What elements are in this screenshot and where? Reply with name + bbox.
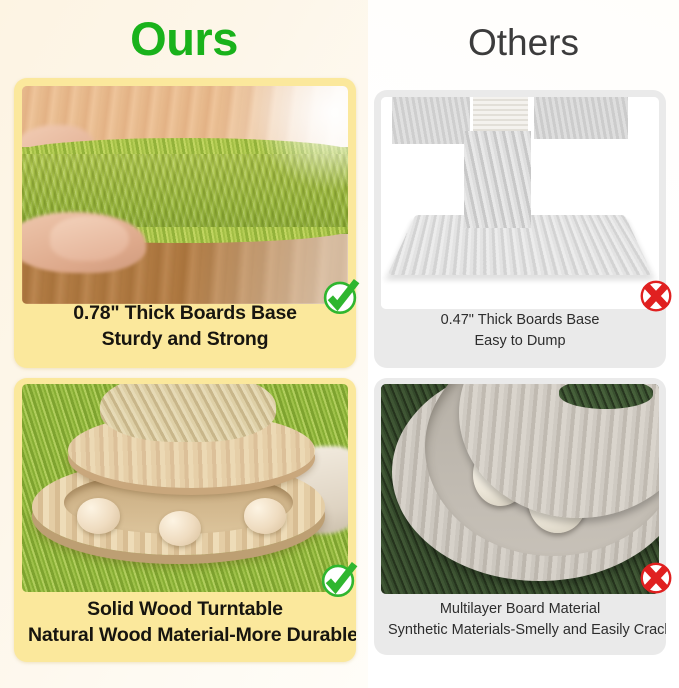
wooden-ball: [244, 498, 286, 533]
ours-photo-wood-turntable: [22, 384, 348, 592]
header-others: Others: [368, 12, 679, 74]
x-badge: [637, 277, 675, 315]
caption-line-1: 0.78" Thick Boards Base: [28, 300, 342, 326]
ours-card-thick-boards: 0.78" Thick Boards Base Sturdy and Stron…: [14, 78, 356, 368]
caption-line-2: Easy to Dump: [388, 331, 652, 352]
caption-line-1: Solid Wood Turntable: [28, 596, 342, 622]
ours-photo-thick-board-edge: [22, 86, 348, 304]
check-badge: [319, 275, 361, 317]
ours-card-solid-wood-turntable: Solid Wood Turntable Natural Wood Materi…: [14, 378, 356, 662]
others-card-multilayer-board: Multilayer Board Material Synthetic Mate…: [374, 378, 666, 655]
ours-caption-turntable: Solid Wood Turntable Natural Wood Materi…: [14, 596, 356, 648]
wooden-ball: [77, 498, 119, 533]
others-photo-thin-board-base: [381, 97, 659, 309]
x-badge: [637, 559, 675, 597]
check-badge: [317, 558, 359, 600]
others-caption-multilayer: Multilayer Board Material Synthetic Mate…: [374, 599, 666, 641]
header-ours: Ours: [0, 8, 368, 70]
others-photo-composite-track: [381, 384, 659, 594]
caption-line-2: Sturdy and Strong: [28, 326, 342, 352]
comparison-header-row: Ours Others: [0, 0, 679, 78]
ours-caption-thick-boards: 0.78" Thick Boards Base Sturdy and Stron…: [14, 300, 356, 352]
caption-line-1: 0.47" Thick Boards Base: [388, 310, 652, 331]
caption-line-2: Synthetic Materials-Smelly and Easily Cr…: [388, 620, 652, 641]
caption-line-1: Multilayer Board Material: [388, 599, 652, 620]
others-caption-thin-boards: 0.47" Thick Boards Base Easy to Dump: [374, 310, 666, 352]
caption-line-2: Natural Wood Material-More Durable: [28, 622, 342, 648]
product-comparison-graphic: Ours Others 0.78" Thick Boards Base Stur…: [0, 0, 679, 688]
others-card-thin-boards: 0.47" Thick Boards Base Easy to Dump: [374, 90, 666, 368]
